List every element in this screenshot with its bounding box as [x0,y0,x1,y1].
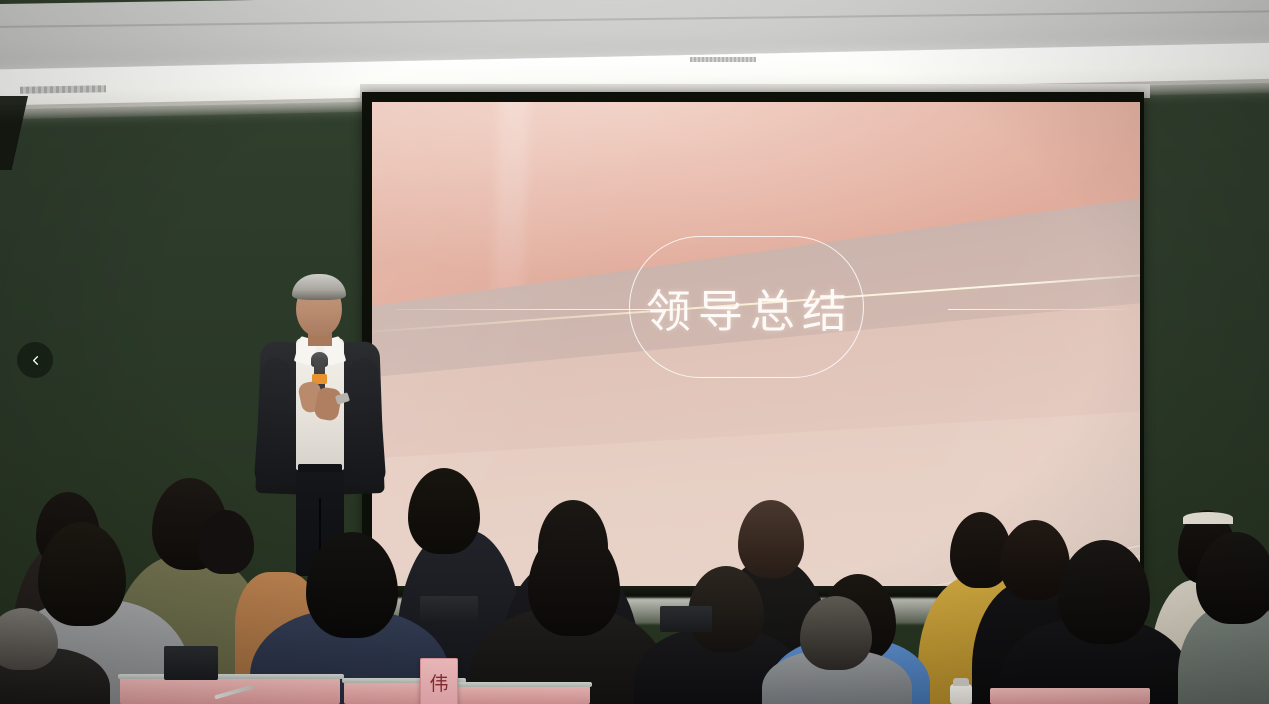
previous-image-button[interactable] [17,342,53,378]
conference-desk-edge [438,682,592,687]
laptop [660,606,712,632]
laptop [164,646,218,680]
slide-title-pill: 领导总结 [629,236,863,378]
ceiling-vent [690,57,756,62]
laptop [420,596,478,624]
slide-title: 领导总结 [639,275,854,340]
speaker-hair [292,274,346,300]
conference-desk [990,688,1150,704]
photo-viewer: 领导总结 [0,0,1269,704]
ceiling-vent [20,85,106,93]
water-bottle-cap [953,678,969,686]
name-placard: 伟 [420,658,458,704]
conference-desk-edge [118,674,344,679]
slide-horizontal-rule [948,309,1125,310]
speaker-presenter [252,276,388,576]
water-bottle [950,684,972,704]
chevron-left-icon [28,353,43,368]
conference-desk [440,686,590,704]
audience-headband [1183,512,1233,524]
speaker-belt [298,464,342,472]
